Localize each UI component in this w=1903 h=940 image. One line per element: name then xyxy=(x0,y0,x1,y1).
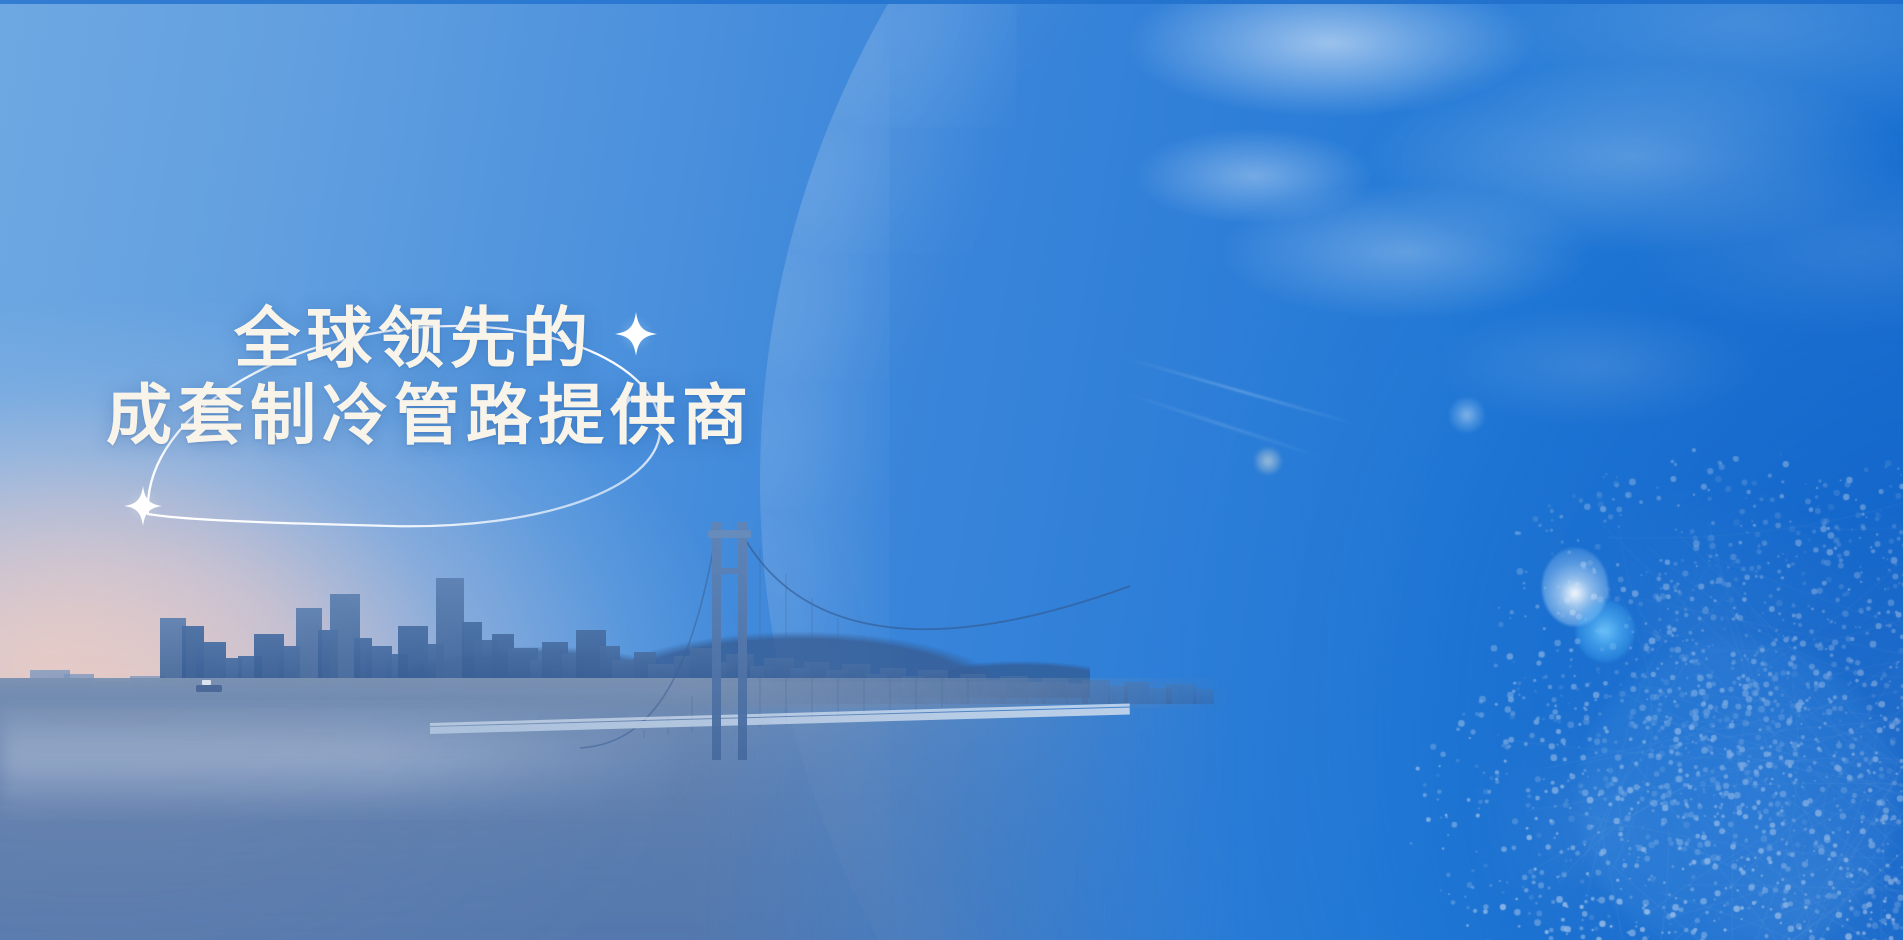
sunrise-haze-core xyxy=(0,0,1903,940)
hero-banner: 全球领先的 成套制冷管路提供商 xyxy=(0,0,1903,940)
top-edge-band xyxy=(0,0,1903,4)
headline-line-2: 成套制冷管路提供商 xyxy=(106,377,754,454)
hero-headline: 全球领先的 成套制冷管路提供商 xyxy=(106,300,754,453)
headline-line-1: 全球领先的 xyxy=(234,300,754,377)
